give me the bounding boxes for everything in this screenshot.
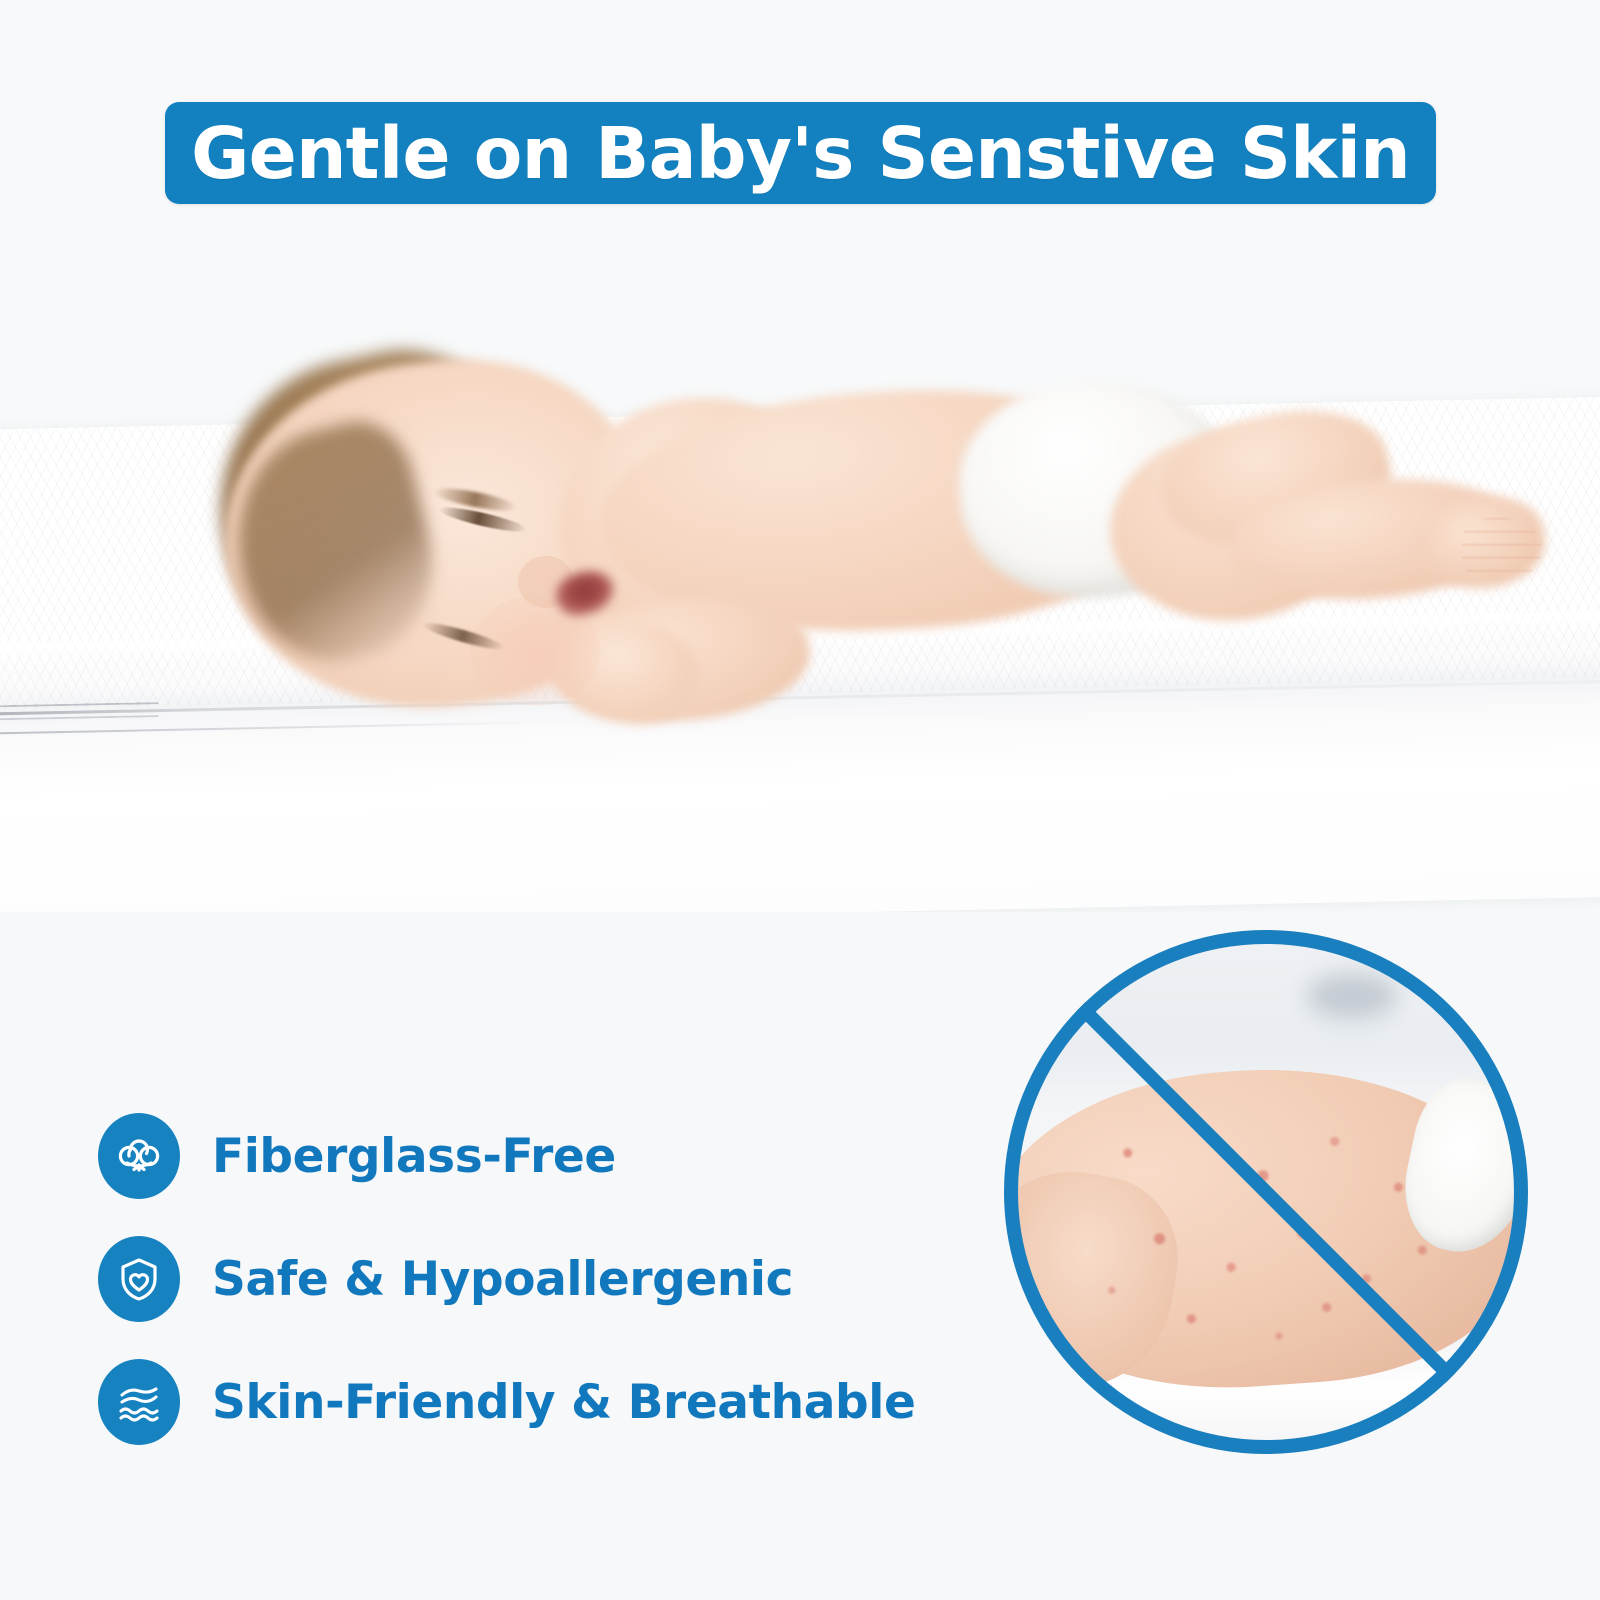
cotton-boll-icon	[98, 1113, 180, 1199]
feature-item-skin-friendly-breathable: Skin-Friendly & Breathable	[98, 1354, 938, 1450]
feature-label: Safe & Hypoallergenic	[212, 1252, 793, 1307]
feature-label: Fiberglass-Free	[212, 1129, 616, 1184]
feature-list: Fiberglass-Free Safe & Hypoallergenic	[98, 1108, 938, 1477]
headline-text: Gentle on Baby's Senstive Skin	[191, 118, 1410, 189]
feature-item-safe-hypoallergenic: Safe & Hypoallergenic	[98, 1231, 938, 1327]
feature-item-fiberglass-free: Fiberglass-Free	[98, 1108, 938, 1204]
feature-label: Skin-Friendly & Breathable	[212, 1375, 915, 1430]
no-symbol-icon	[1004, 930, 1528, 1454]
shield-heart-icon	[98, 1236, 180, 1322]
features-section: Fiberglass-Free Safe & Hypoallergenic	[0, 912, 1600, 1600]
baby-toes	[1462, 518, 1542, 582]
headline-banner: Gentle on Baby's Senstive Skin	[165, 102, 1436, 204]
breathable-waves-icon	[98, 1359, 180, 1445]
